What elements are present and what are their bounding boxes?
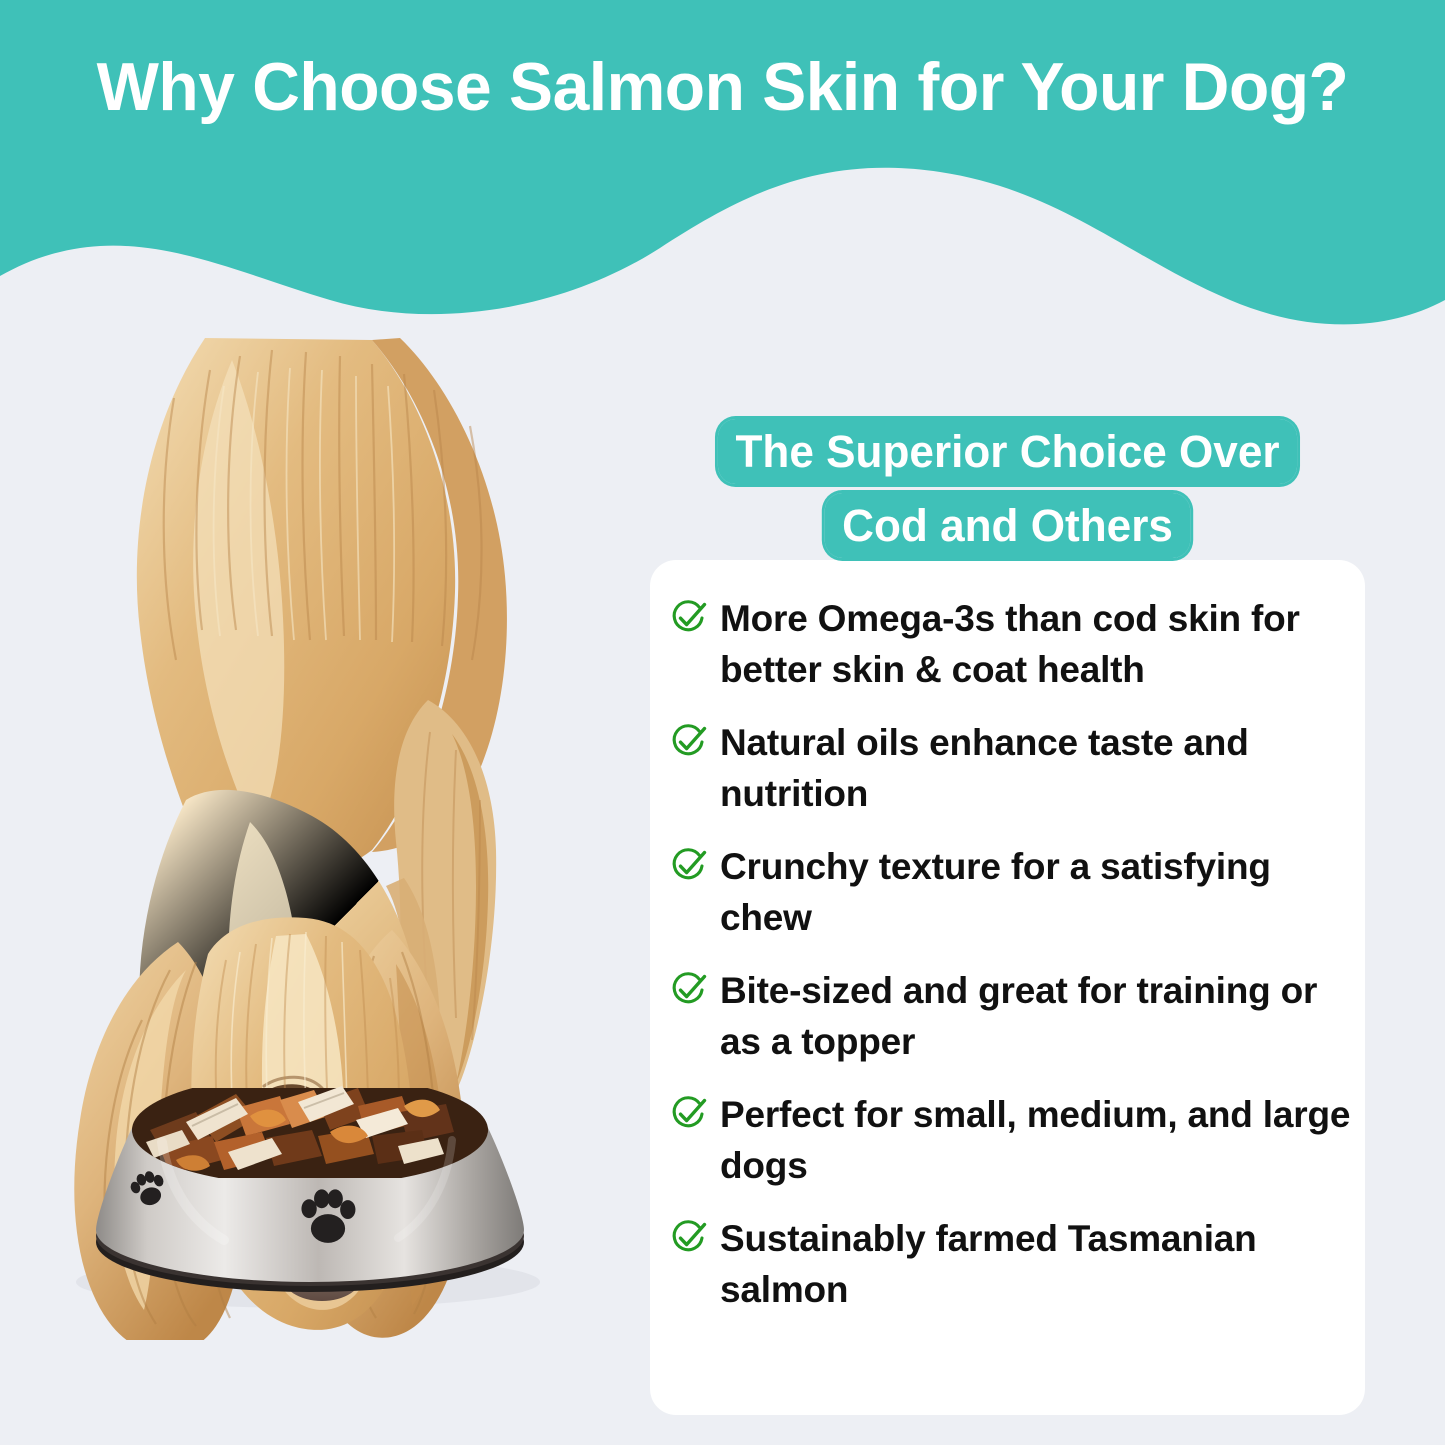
check-circle-icon — [668, 1218, 708, 1258]
check-circle-icon — [668, 846, 708, 886]
benefit-text: Sustainably farmed Tasmanian salmon — [720, 1213, 1358, 1315]
benefits-banner-line2: Cod and Others — [824, 493, 1190, 558]
benefit-text: Crunchy texture for a satisfying chew — [720, 841, 1358, 943]
benefits-banner: The Superior Choice Over Cod and Others — [657, 415, 1358, 563]
list-item: Sustainably farmed Tasmanian salmon — [668, 1213, 1358, 1315]
benefits-list: More Omega-3s than cod skin for better s… — [668, 593, 1358, 1315]
list-item: Perfect for small, medium, and large dog… — [668, 1089, 1358, 1191]
check-circle-icon — [668, 722, 708, 762]
benefit-text: Natural oils enhance taste and nutrition — [720, 717, 1358, 819]
benefit-text: Bite-sized and great for training or as … — [720, 965, 1358, 1067]
check-circle-icon — [668, 970, 708, 1010]
benefits-banner-line1: The Superior Choice Over — [718, 419, 1297, 484]
check-circle-icon — [668, 1094, 708, 1134]
list-item: Natural oils enhance taste and nutrition — [668, 717, 1358, 819]
benefit-text: Perfect for small, medium, and large dog… — [720, 1089, 1358, 1191]
list-item: Bite-sized and great for training or as … — [668, 965, 1358, 1067]
list-item: Crunchy texture for a satisfying chew — [668, 841, 1358, 943]
page-title: Why Choose Salmon Skin for Your Dog? — [22, 52, 1424, 123]
benefit-text: More Omega-3s than cod skin for better s… — [720, 593, 1358, 695]
check-circle-icon — [668, 598, 708, 638]
list-item: More Omega-3s than cod skin for better s… — [668, 593, 1358, 695]
dog-eating-from-bowl-photo — [0, 330, 620, 1340]
